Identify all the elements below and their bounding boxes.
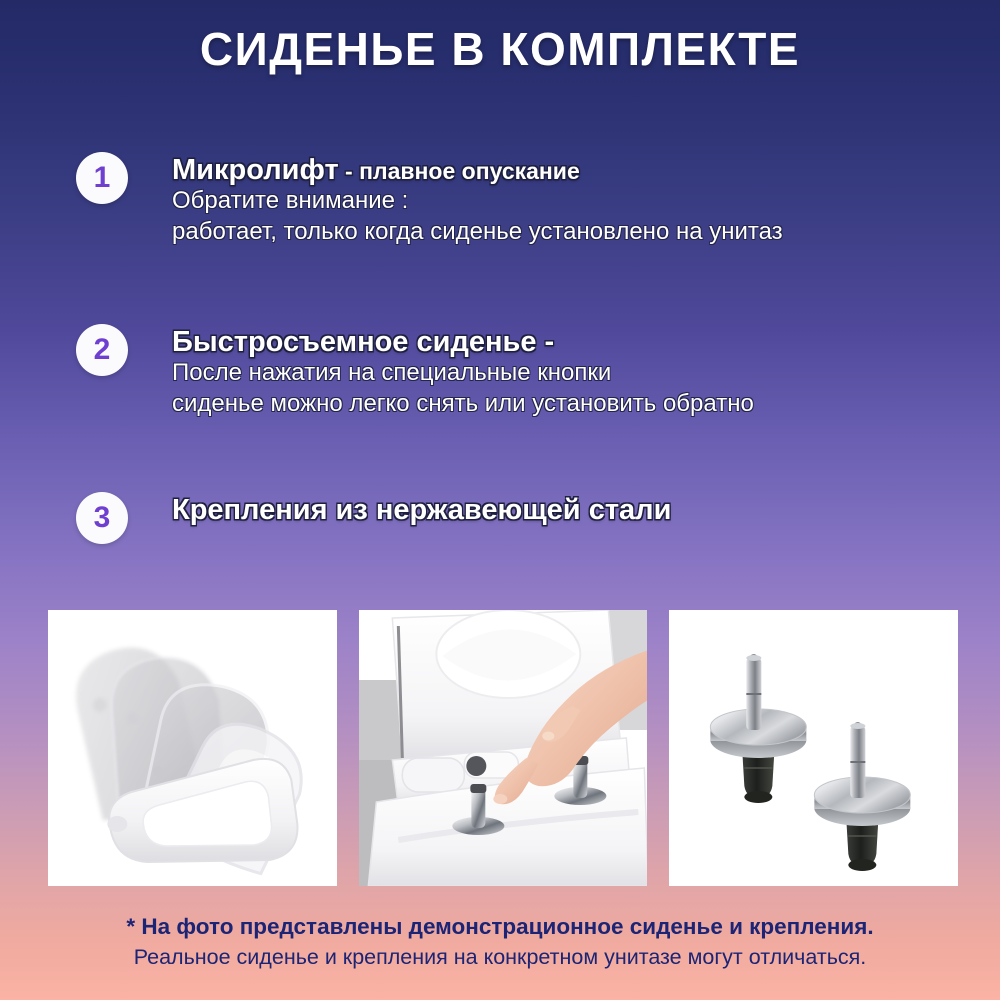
infographic-page: СИДЕНЬЕ В КОМПЛЕКТЕ 1 Микролифт - плавно… bbox=[0, 0, 1000, 1000]
quick-release-seat-photo bbox=[359, 610, 648, 886]
feature-line-1-1: Обратите внимание : bbox=[172, 186, 976, 216]
feature-number-badge-3: 3 bbox=[76, 492, 128, 544]
stainless-steel-fixings-photo bbox=[669, 610, 958, 886]
feature-item-1: 1 Микролифт - плавное опускание Обратите… bbox=[76, 152, 976, 247]
feature-heading-2: Быстросъемное сиденье - bbox=[172, 326, 976, 358]
feature-text-2: Быстросъемное сиденье - После нажатия на… bbox=[172, 324, 976, 419]
footer-line-2: Реальное сиденье и крепления на конкретн… bbox=[0, 942, 1000, 973]
feature-item-2: 2 Быстросъемное сиденье - После нажатия … bbox=[76, 324, 976, 419]
feature-heading-3: Крепления из нержавеющей стали bbox=[172, 494, 976, 526]
feature-number-badge-1: 1 bbox=[76, 152, 128, 204]
toilet-seat-soft-close-illustration bbox=[48, 610, 337, 886]
page-title: СИДЕНЬЕ В КОМПЛЕКТЕ bbox=[0, 22, 1000, 76]
feature-text-3: Крепления из нержавеющей стали bbox=[172, 492, 976, 526]
feature-line-1-2: работает, только когда сиденье установле… bbox=[172, 217, 976, 247]
feature-heading-bold-1: Микролифт bbox=[172, 154, 339, 186]
feature-line-2-1: После нажатия на специальные кнопки bbox=[172, 358, 976, 388]
toilet-seat-soft-close-photo bbox=[48, 610, 337, 886]
feature-heading-bold-3: Крепления из нержавеющей стали bbox=[172, 494, 671, 526]
feature-number-badge-2: 2 bbox=[76, 324, 128, 376]
feature-line-2-2: сиденье можно легко снять или установить… bbox=[172, 389, 976, 419]
stainless-fixings-illustration bbox=[669, 610, 958, 886]
photo-strip bbox=[48, 610, 958, 886]
footer-disclaimer: * На фото представлены демонстрационное … bbox=[0, 912, 1000, 974]
feature-heading-bold-2: Быстросъемное сиденье - bbox=[172, 326, 554, 358]
feature-text-1: Микролифт - плавное опускание Обратите в… bbox=[172, 152, 976, 247]
quick-release-hand-illustration bbox=[359, 610, 648, 886]
feature-item-3: 3 Крепления из нержавеющей стали bbox=[76, 492, 976, 560]
footer-line-1: * На фото представлены демонстрационное … bbox=[0, 912, 1000, 942]
feature-heading-1: Микролифт - плавное опускание bbox=[172, 154, 976, 186]
feature-heading-rest-1: - плавное опускание bbox=[339, 158, 580, 184]
